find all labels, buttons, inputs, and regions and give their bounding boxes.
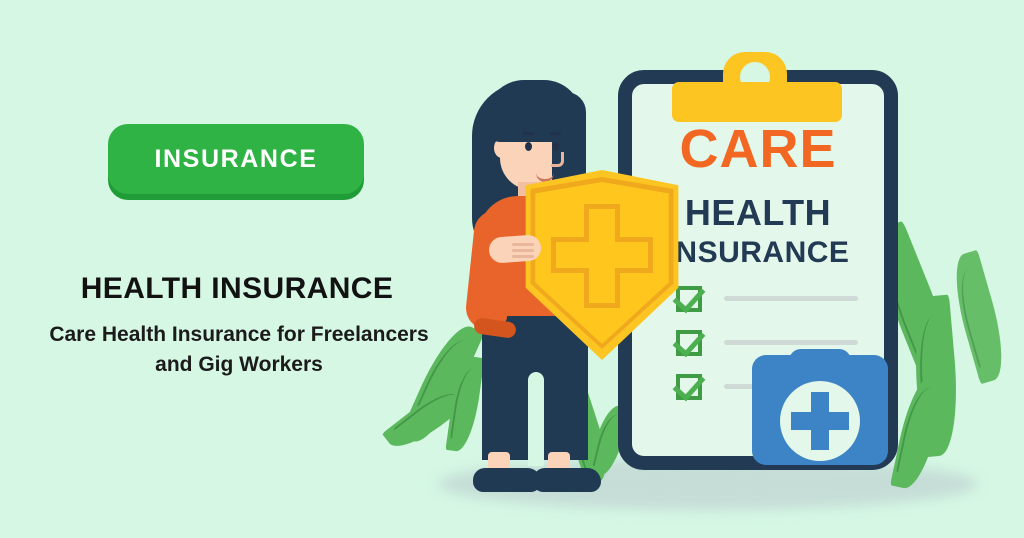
page-title: HEALTH INSURANCE <box>52 272 422 306</box>
person-eyebrow-left <box>523 132 534 135</box>
person-eye-left <box>525 142 532 151</box>
checklist-line <box>724 296 858 301</box>
person-finger <box>512 243 534 246</box>
person-shoe-left <box>473 468 541 492</box>
person-finger <box>512 249 534 252</box>
person-eye-right <box>552 142 559 151</box>
person-shoe-right <box>533 468 601 492</box>
insurance-banner: INSURANCE HEALTH INSURANCE Care Health I… <box>0 0 1024 538</box>
health-shield-icon <box>519 170 685 360</box>
shield-cross-join <box>589 209 615 303</box>
clipboard-clip <box>672 82 842 122</box>
first-aid-cross-horizontal <box>791 412 849 430</box>
person-leg-gap <box>528 372 544 466</box>
page-subtitle: Care Health Insurance for Freelancers an… <box>40 320 438 381</box>
person-nose <box>551 152 564 167</box>
person-eyebrow-right <box>550 132 561 135</box>
insurance-badge-label: INSURANCE <box>154 145 317 174</box>
person-finger <box>512 255 534 258</box>
insurance-badge[interactable]: INSURANCE <box>108 124 364 194</box>
checklist-line <box>724 340 858 345</box>
